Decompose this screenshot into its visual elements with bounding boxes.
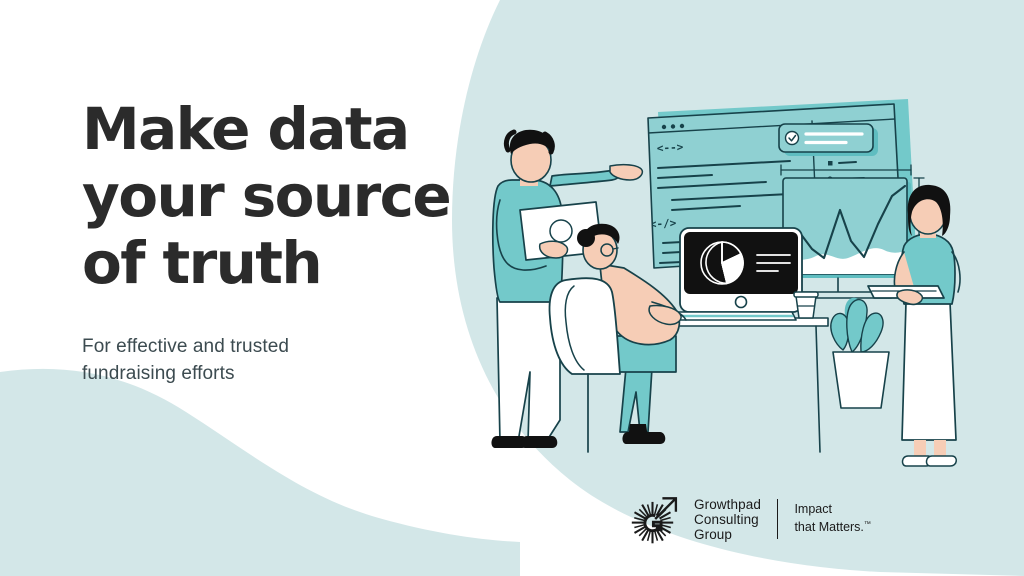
trademark-symbol: ™ <box>864 521 871 528</box>
growthpad-sunburst-icon <box>630 492 684 546</box>
slide-canvas: <--> <-/> <box>0 0 1024 576</box>
copy-block: Make data your source of truth For effec… <box>82 96 482 387</box>
logo-tagline-text: Impact that Matters. <box>794 502 863 534</box>
brand-logo: Growthpad Consulting Group Impact that M… <box>630 492 871 546</box>
page-title: Make data your source of truth <box>82 96 482 297</box>
desktop-monitor-pie-chart <box>680 228 802 318</box>
potted-cactus-plant <box>831 298 889 408</box>
coffee-cup <box>794 292 818 318</box>
svg-text:<-/>: <-/> <box>649 217 677 231</box>
logo-tagline: Impact that Matters.™ <box>794 502 870 535</box>
check-circle-icon <box>786 132 799 145</box>
logo-divider <box>777 499 779 539</box>
page-subtitle: For effective and trusted fundraising ef… <box>82 333 482 387</box>
svg-text:<-->: <--> <box>656 141 684 155</box>
logo-company-name: Growthpad Consulting Group <box>694 497 761 542</box>
notification-card <box>779 124 878 156</box>
